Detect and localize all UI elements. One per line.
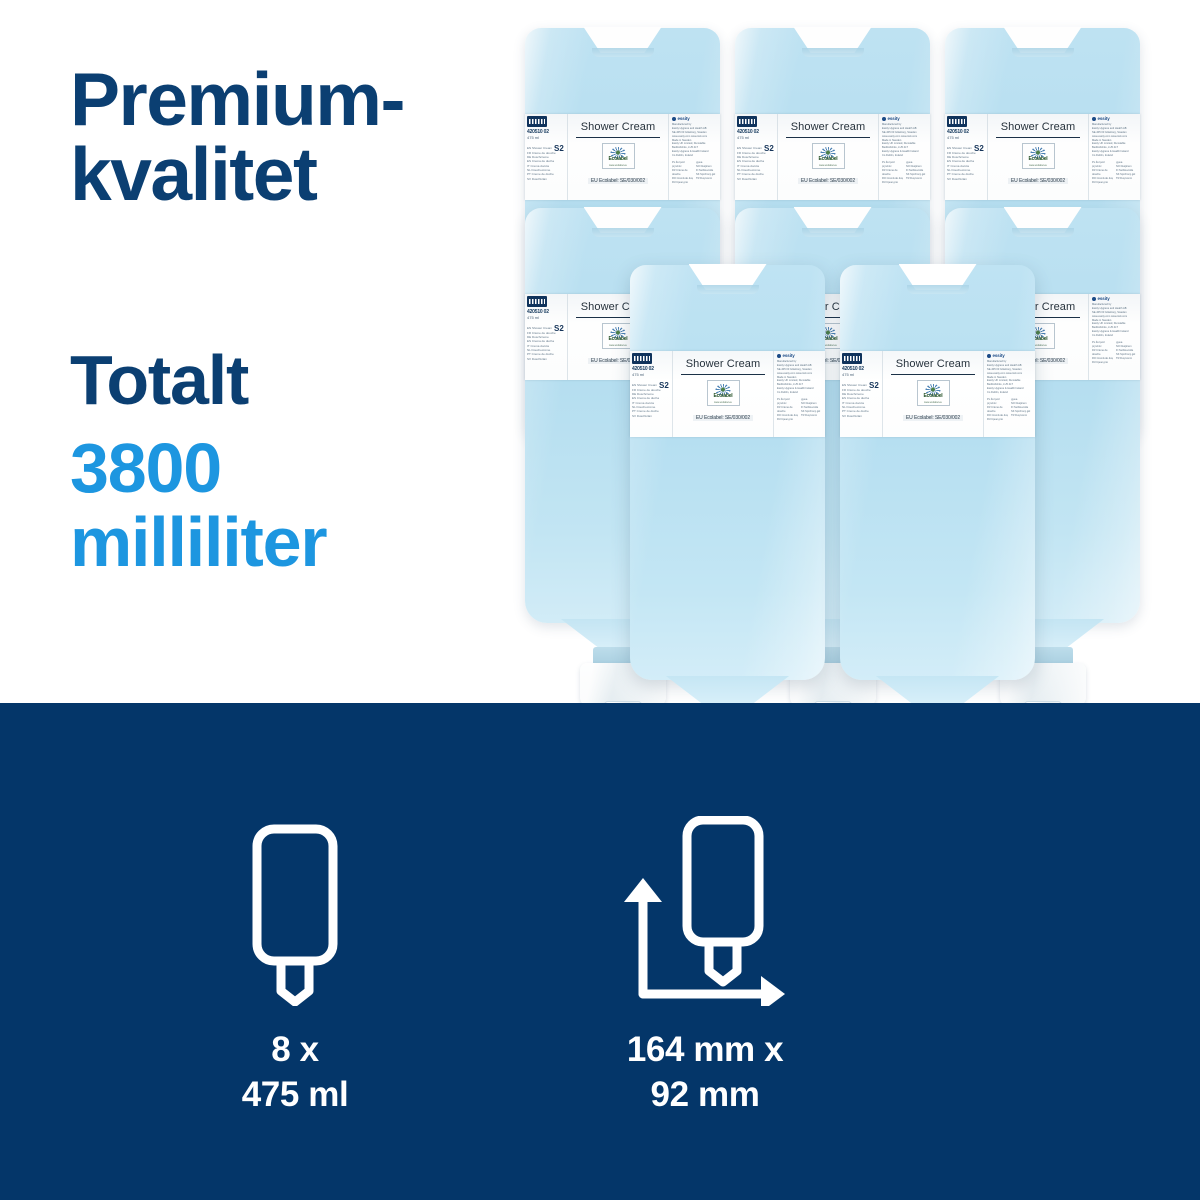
tork-logo-icon	[947, 116, 967, 127]
manufacturer-fineprint: Manufactured by Essity Hygiene and Healt…	[882, 123, 928, 158]
label-divider	[576, 137, 660, 138]
label-center-panel: Shower Cream Ecolabel www.ecolabel.eu EU…	[673, 351, 773, 437]
system-code: S2	[974, 144, 984, 153]
ecolabel-code: EU Ecolabel: SE/030/002	[1008, 178, 1068, 184]
total-value: 3800 milliliter	[70, 431, 500, 579]
ecolabel-url: www.ecolabel.eu	[603, 164, 634, 167]
ecolabel-url: www.ecolabel.eu	[603, 344, 634, 347]
ecolabel-word: Ecolabel	[603, 156, 634, 162]
label-left-panel: 420510 02 475 ml S2 EN Shower Cream FR C…	[525, 114, 568, 200]
essity-logo: essity	[882, 116, 928, 121]
label-center-panel: Shower Cream Ecolabel www.ecolabel.eu EU…	[568, 114, 668, 200]
product-label: 420510 02 475 ml S2 EN Shower Cream FR C…	[735, 114, 930, 200]
system-code: S2	[764, 144, 774, 153]
bottle-shoulder	[658, 676, 798, 703]
system-code: S2	[869, 381, 879, 390]
bottle-nozzle	[1024, 701, 1062, 703]
bottle-shoulder	[868, 676, 1008, 703]
ecolabel-code: EU Ecolabel: SE/030/002	[588, 178, 648, 184]
manufacturer-fineprint: Manufactured by Essity Hygiene and Healt…	[777, 360, 823, 395]
label-divider	[996, 137, 1080, 138]
label-left-panel: 420510 02 475 ml S2 EN Shower Cream FR C…	[630, 351, 673, 437]
label-right-panel: essity Manufactured by Essity Hygiene an…	[878, 114, 930, 200]
label-size: 475 ml	[527, 135, 566, 140]
tork-logo-icon	[737, 116, 757, 127]
label-size: 475 ml	[737, 135, 776, 140]
ecolabel-url: www.ecolabel.eu	[813, 164, 844, 167]
product-name: Shower Cream	[778, 121, 878, 133]
label-right-panel: essity Manufactured by Essity Hygiene an…	[1088, 114, 1140, 200]
essity-logo: essity	[987, 353, 1033, 358]
essity-logo: essity	[1092, 296, 1138, 301]
label-right-panel: essity Manufactured by Essity Hygiene an…	[668, 114, 720, 200]
label-left-panel: 420510 02 475 ml S2 EN Shower Cream FR C…	[525, 294, 568, 380]
product-name: Shower Cream	[568, 121, 668, 133]
system-code: S2	[659, 381, 669, 390]
label-language-columns: PL Żel pod prysznic FR Crème de douche R…	[882, 161, 928, 185]
product-name: Shower Cream	[883, 358, 983, 370]
product-label: 420510 02 475 ml S2 EN Shower Cream FR C…	[840, 351, 1035, 437]
label-divider	[681, 374, 765, 375]
ecolabel-url: www.ecolabel.eu	[708, 401, 739, 404]
spec-item-label: 164 mm x 92 mm	[560, 1028, 850, 1118]
page-title: Premium- kvalitet	[70, 62, 500, 212]
ecolabel-code: EU Ecolabel: SE/030/002	[693, 415, 753, 421]
manufacturer-fineprint: Manufactured by Essity Hygiene and Healt…	[672, 123, 718, 158]
bottle-nozzle	[814, 701, 852, 703]
eu-ecolabel-icon: Ecolabel www.ecolabel.eu	[917, 380, 950, 406]
manufacturer-fineprint: Manufactured by Essity Hygiene and Healt…	[1092, 123, 1138, 158]
product-label: 420510 02 475 ml S2 EN Shower Cream FR C…	[525, 114, 720, 200]
bottle-notch-shadow	[592, 228, 654, 237]
ecolabel-url: www.ecolabel.eu	[1023, 164, 1054, 167]
product-name: Shower Cream	[673, 358, 773, 370]
system-code: S2	[554, 144, 564, 153]
bottle-quantity-icon	[235, 821, 355, 1006]
ecolabel-url: www.ecolabel.eu	[918, 401, 949, 404]
label-language-columns: PL Żel pod prysznic FR Crème de douche R…	[1092, 161, 1138, 185]
ecolabel-word: Ecolabel	[918, 393, 949, 399]
label-size: 475 ml	[632, 372, 671, 377]
ecolabel-word: Ecolabel	[603, 336, 634, 342]
eu-ecolabel-icon: Ecolabel www.ecolabel.eu	[1022, 143, 1055, 169]
headline-block: Premium- kvalitet	[70, 62, 500, 212]
label-language-columns: PL Żel pod prysznic FR Crème de douche R…	[1092, 341, 1138, 365]
bottle-notch-shadow	[592, 48, 654, 57]
spec-item-2: 164 mm x 92 mm	[560, 811, 850, 1118]
label-divider	[786, 137, 870, 138]
system-code: S2	[554, 324, 564, 333]
eu-ecolabel-icon: Ecolabel www.ecolabel.eu	[707, 380, 740, 406]
label-left-panel: 420510 02 475 ml S2 EN Shower Cream FR C…	[840, 351, 883, 437]
tork-logo-icon	[632, 353, 652, 364]
product-photo-group: 420510 02 475 ml S2 EN Shower Cream FR C…	[500, 0, 1200, 703]
label-language-columns: PL Żel pod prysznic FR Crème de douche R…	[987, 398, 1033, 422]
bottle-front-right: 420510 02 475 ml S2 EN Shower Cream FR C…	[840, 265, 1035, 680]
product-marketing-banner: Premium- kvalitet Totalt 3800 milliliter…	[0, 0, 1200, 1200]
spec-item-label: 8 x 475 ml	[150, 1028, 440, 1118]
bottle-quantity-icon-wrapper	[150, 811, 440, 1006]
label-right-panel: essity Manufactured by Essity Hygiene an…	[773, 351, 825, 437]
spec-list: 8 x 475 ml 164 mm x 92 mm	[150, 811, 850, 1118]
total-volume-block: Totalt 3800 milliliter	[70, 345, 500, 579]
eu-ecolabel-icon: Ecolabel www.ecolabel.eu	[602, 143, 635, 169]
tork-logo-icon	[527, 116, 547, 127]
label-left-panel: 420510 02 475 ml S2 EN Shower Cream FR C…	[945, 114, 988, 200]
bottle-notch-shadow	[1012, 228, 1074, 237]
label-size: 475 ml	[842, 372, 881, 377]
hero-section: Premium- kvalitet Totalt 3800 milliliter…	[0, 0, 1200, 703]
label-size: 475 ml	[947, 135, 986, 140]
ecolabel-code: EU Ecolabel: SE/030/002	[903, 415, 963, 421]
essity-logo: essity	[672, 116, 718, 121]
bottle-dimensions-icon-wrapper	[560, 811, 850, 1006]
bottle-body: 420510 02 475 ml S2 EN Shower Cream FR C…	[630, 265, 825, 680]
label-divider	[891, 374, 975, 375]
label-left-panel: 420510 02 475 ml S2 EN Shower Cream FR C…	[735, 114, 778, 200]
total-label: Totalt	[70, 345, 500, 415]
label-center-panel: Shower Cream Ecolabel www.ecolabel.eu EU…	[778, 114, 878, 200]
product-label: 420510 02 475 ml S2 EN Shower Cream FR C…	[630, 351, 825, 437]
product-name: Shower Cream	[988, 121, 1088, 133]
essity-logo: essity	[1092, 116, 1138, 121]
essity-logo: essity	[777, 353, 823, 358]
label-right-panel: essity Manufactured by Essity Hygiene an…	[983, 351, 1035, 437]
bottle-notch-shadow	[907, 285, 969, 294]
bottle-dimensions-icon	[613, 816, 798, 1006]
manufacturer-fineprint: Manufactured by Essity Hygiene and Healt…	[987, 360, 1033, 395]
bottle-front-left: 420510 02 475 ml S2 EN Shower Cream FR C…	[630, 265, 825, 680]
bottle-notch-shadow	[1012, 48, 1074, 57]
ecolabel-word: Ecolabel	[813, 156, 844, 162]
product-label: 420510 02 475 ml S2 EN Shower Cream FR C…	[945, 114, 1140, 200]
ecolabel-word: Ecolabel	[1023, 156, 1054, 162]
label-center-panel: Shower Cream Ecolabel www.ecolabel.eu EU…	[883, 351, 983, 437]
bottle-notch-shadow	[697, 285, 759, 294]
label-language-columns: PL Żel pod prysznic FR Crème de douche R…	[672, 161, 718, 185]
tork-logo-icon	[527, 296, 547, 307]
bottle-body: 420510 02 475 ml S2 EN Shower Cream FR C…	[840, 265, 1035, 680]
label-center-panel: Shower Cream Ecolabel www.ecolabel.eu EU…	[988, 114, 1088, 200]
ecolabel-word: Ecolabel	[708, 393, 739, 399]
spec-item-1: 8 x 475 ml	[150, 811, 440, 1118]
label-size: 475 ml	[527, 315, 566, 320]
bottle-notch-shadow	[802, 228, 864, 237]
label-language-columns: PL Żel pod prysznic FR Crème de douche R…	[777, 398, 823, 422]
manufacturer-fineprint: Manufactured by Essity Hygiene and Healt…	[1092, 303, 1138, 338]
bottle-nozzle	[604, 701, 642, 703]
spec-panel: 8 x 475 ml 164 mm x 92 mm	[0, 703, 1200, 1200]
ecolabel-code: EU Ecolabel: SE/030/002	[798, 178, 858, 184]
label-right-panel: essity Manufactured by Essity Hygiene an…	[1088, 294, 1140, 380]
tork-logo-icon	[842, 353, 862, 364]
eu-ecolabel-icon: Ecolabel www.ecolabel.eu	[812, 143, 845, 169]
bottle-notch-shadow	[802, 48, 864, 57]
